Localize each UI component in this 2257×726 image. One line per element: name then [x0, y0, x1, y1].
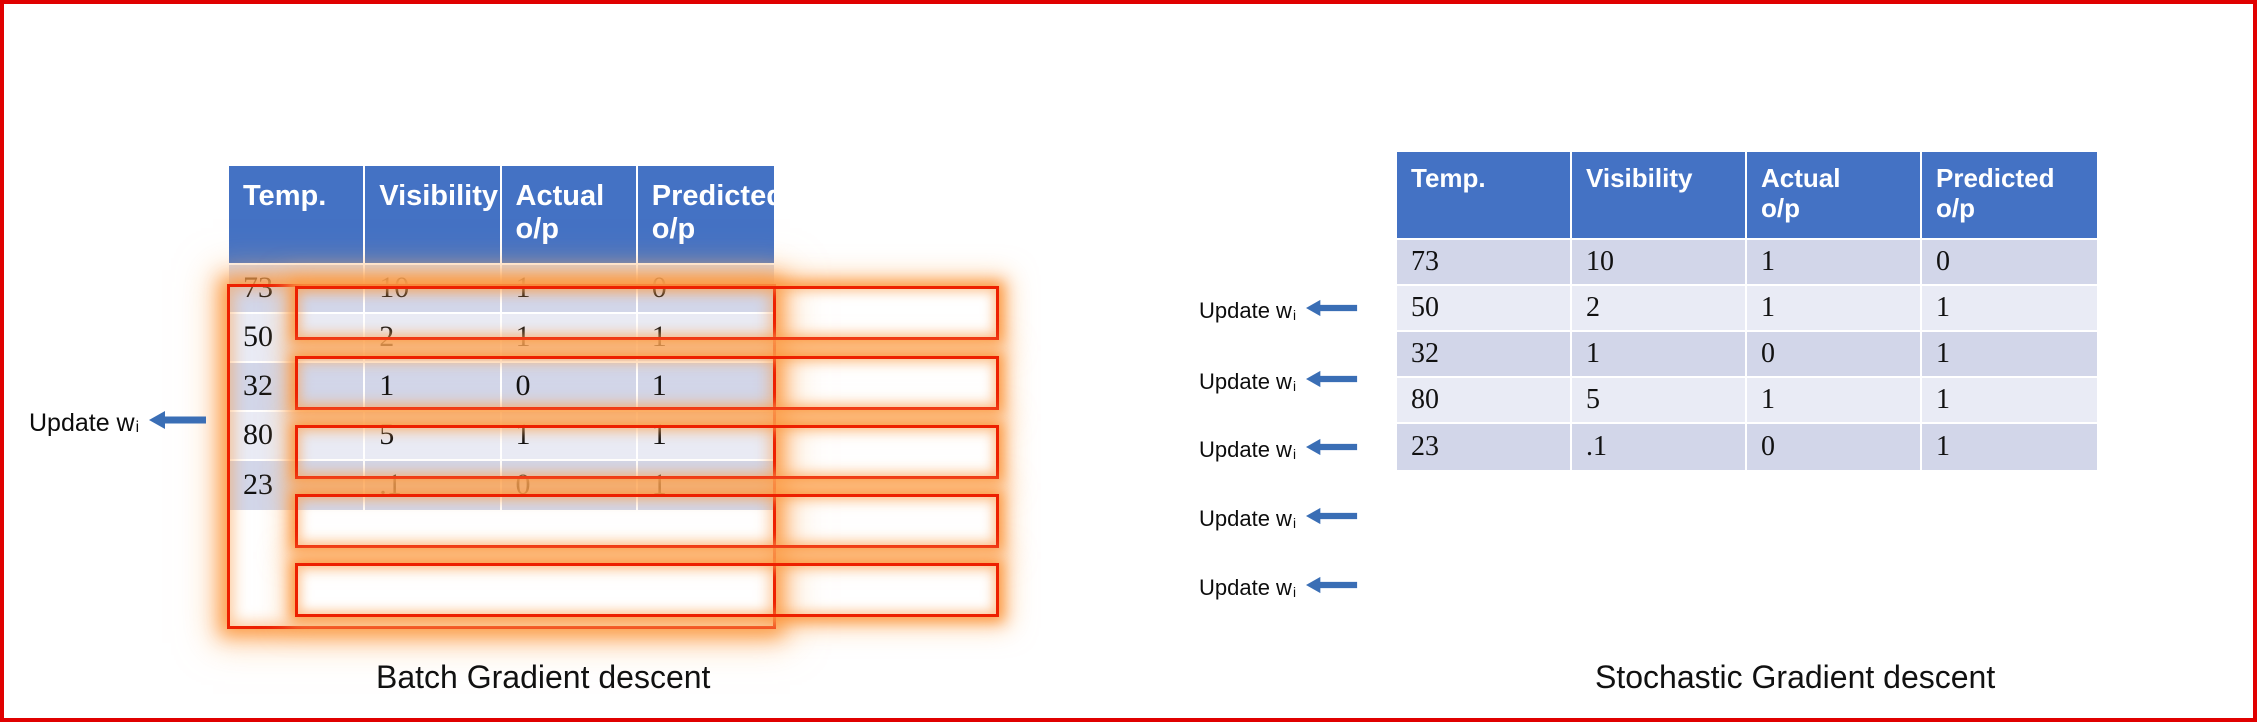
- update-label-text: Update w: [1199, 506, 1292, 532]
- column-header-actual-op: Actual o/p: [1747, 152, 1922, 240]
- figure-canvas: Temp. Visibility Actual o/p Predicted o/…: [0, 0, 2257, 722]
- stochastic-highlight-row-1: [295, 286, 999, 340]
- header-row: Temp. Visibility Actual o/p Predicted o/…: [1397, 152, 2097, 240]
- cell-actual: 0: [1747, 424, 1922, 470]
- update-label-subscript: i: [1292, 516, 1296, 531]
- arrow-left-icon: [1306, 574, 1358, 602]
- stochastic-data-table: Temp. Visibility Actual o/p Predicted o/…: [1397, 152, 2097, 470]
- cell-predicted: 0: [1922, 240, 2097, 286]
- cell-visibility: 1: [1572, 332, 1747, 378]
- cell-predicted: 1: [1922, 286, 2097, 332]
- table-row: 32 1 0 1: [1397, 332, 2097, 378]
- update-label-subscript: i: [1292, 447, 1296, 462]
- cell-visibility: .1: [1572, 424, 1747, 470]
- update-label-subscript: i: [1292, 585, 1296, 600]
- update-label-text: Update w: [1199, 369, 1292, 395]
- stochastic-caption: Stochastic Gradient descent: [1595, 659, 1995, 696]
- cell-predicted: 1: [1922, 332, 2097, 378]
- stochastic-table-body: 73 10 1 0 50 2 1 1 32 1 0: [1397, 240, 2097, 470]
- header-line-1: Visibility: [1586, 163, 1692, 193]
- cell-temp: 50: [1397, 286, 1572, 332]
- stochastic-update-weight-label-4: Update wi: [1199, 505, 1358, 533]
- header-line-1: Predicted: [1936, 163, 2055, 193]
- cell-actual: 1: [1747, 240, 1922, 286]
- header-line-1: Actual: [1761, 163, 1840, 193]
- header-line-2: o/p: [1936, 193, 1975, 223]
- stochastic-update-weight-label-2: Update wi: [1199, 368, 1358, 396]
- table-row: 23 .1 0 1: [1397, 424, 2097, 470]
- cell-actual: 1: [1747, 286, 1922, 332]
- update-label-text: Update w: [1199, 298, 1292, 324]
- cell-predicted: 1: [1922, 378, 2097, 424]
- arrow-left-icon: [1306, 436, 1358, 464]
- update-label-text: Update w: [1199, 437, 1292, 463]
- stochastic-update-weight-label-5: Update wi: [1199, 574, 1358, 602]
- arrow-left-icon: [1306, 505, 1358, 533]
- cell-temp: 73: [1397, 240, 1572, 286]
- stochastic-highlight-row-5: [295, 563, 999, 617]
- stochastic-update-weight-label-3: Update wi: [1199, 436, 1358, 464]
- update-label-subscript: i: [1292, 308, 1296, 323]
- cell-visibility: 10: [1572, 240, 1747, 286]
- arrow-left-icon: [1306, 368, 1358, 396]
- header-line-1: Temp.: [1411, 163, 1486, 193]
- column-header-predicted-op: Predicted o/p: [1922, 152, 2097, 240]
- cell-temp: 80: [1397, 378, 1572, 424]
- arrow-left-icon: [1306, 297, 1358, 325]
- cell-temp: 32: [1397, 332, 1572, 378]
- column-header-temp: Temp.: [1397, 152, 1572, 240]
- stochastic-highlight-row-4: [295, 494, 999, 548]
- update-label-text: Update w: [1199, 575, 1292, 601]
- stochastic-table: Temp. Visibility Actual o/p Predicted o/…: [1397, 152, 2097, 470]
- cell-actual: 0: [1747, 332, 1922, 378]
- table-row: 80 5 1 1: [1397, 378, 2097, 424]
- header-line-2: o/p: [1761, 193, 1800, 223]
- stochastic-table-header: Temp. Visibility Actual o/p Predicted o/…: [1397, 152, 2097, 240]
- stochastic-gradient-panel: Temp. Visibility Actual o/p Predicted o/…: [4, 4, 2257, 726]
- cell-predicted: 1: [1922, 424, 2097, 470]
- cell-actual: 1: [1747, 378, 1922, 424]
- table-row: 50 2 1 1: [1397, 286, 2097, 332]
- cell-visibility: 5: [1572, 378, 1747, 424]
- stochastic-update-weight-label-1: Update wi: [1199, 297, 1358, 325]
- stochastic-highlight-row-3: [295, 425, 999, 479]
- stochastic-highlight-row-2: [295, 356, 999, 410]
- cell-temp: 23: [1397, 424, 1572, 470]
- cell-visibility: 2: [1572, 286, 1747, 332]
- table-row: 73 10 1 0: [1397, 240, 2097, 286]
- update-label-subscript: i: [1292, 379, 1296, 394]
- column-header-visibility: Visibility: [1572, 152, 1747, 240]
